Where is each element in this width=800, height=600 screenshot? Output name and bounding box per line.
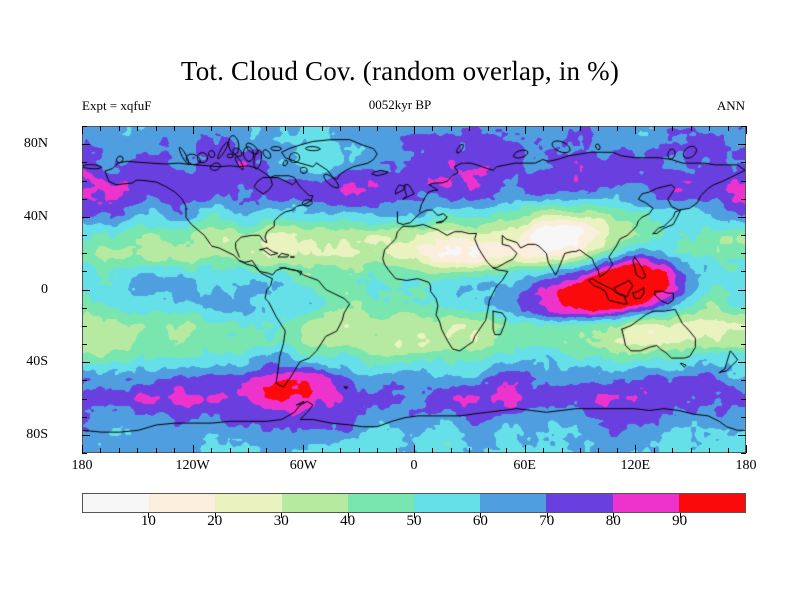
axis-tickmark [741, 271, 746, 272]
axis-tickmark [266, 126, 267, 131]
axis-tickmark [82, 445, 83, 453]
axis-tickmark [741, 235, 746, 236]
axis-tickmark [82, 162, 87, 163]
colorbar-band [414, 494, 480, 512]
axis-tickmark [469, 448, 470, 453]
axis-tickmark [193, 445, 194, 453]
axis-tickmark [248, 126, 249, 131]
axis-tickmark [738, 290, 746, 291]
axis-tickmark [82, 362, 90, 363]
axis-tickmark [285, 126, 286, 131]
axis-tickmark [174, 126, 175, 131]
colorbar-band [679, 494, 745, 512]
axis-tickmark [119, 126, 120, 131]
colorbar-band [348, 494, 414, 512]
axis-tickmark [82, 308, 87, 309]
axis-tickmark [82, 126, 87, 127]
axis-tickmark [82, 290, 90, 291]
colorbar-band [149, 494, 215, 512]
axis-tickmark [709, 448, 710, 453]
axis-tickmark [741, 181, 746, 182]
axis-tickmark [741, 326, 746, 327]
figure-root: Tot. Cloud Cov. (random overlap, in %) 0… [0, 0, 800, 600]
axis-tickmark [746, 445, 747, 453]
axis-tickmark [322, 126, 323, 131]
axis-tickmark [654, 126, 655, 131]
axis-tickmark [635, 126, 636, 134]
axis-tickmark [82, 380, 87, 381]
axis-tickmark [82, 253, 87, 254]
colorbar-tick-label: 50 [407, 513, 422, 530]
colorbar-tick-label: 30 [274, 513, 289, 530]
axis-tickmark [82, 126, 83, 134]
latitude-tick-label: 40N [24, 209, 48, 225]
axis-tickmark [193, 126, 194, 134]
axis-tickmark [672, 126, 673, 131]
colorbar-tick-label: 60 [473, 513, 488, 530]
axis-tickmark [119, 448, 120, 453]
axis-tickmark [741, 380, 746, 381]
latitude-tick-label: 80S [26, 427, 48, 443]
axis-tickmark [580, 126, 581, 131]
axis-tickmark [728, 126, 729, 131]
colorbar-tick-label: 20 [207, 513, 222, 530]
longitude-tick-label: 60E [513, 458, 536, 474]
axis-tickmark [285, 448, 286, 453]
axis-tickmark [488, 448, 489, 453]
colorbar [82, 493, 746, 513]
axis-tickmark [562, 126, 563, 131]
axis-tickmark [322, 448, 323, 453]
axis-tickmark [741, 253, 746, 254]
axis-tickmark [82, 181, 87, 182]
colorbar-tick-label: 80 [606, 513, 621, 530]
axis-tickmark [359, 448, 360, 453]
axis-tickmark [506, 126, 507, 131]
axis-tickmark [211, 126, 212, 131]
axis-tickmark [741, 453, 746, 454]
axis-tickmark [82, 217, 90, 218]
latitude-tick-label: 40S [26, 354, 48, 370]
season-label: ANN [0, 98, 745, 114]
axis-tickmark [543, 126, 544, 131]
axis-tickmark [728, 448, 729, 453]
axis-tickmark [598, 448, 599, 453]
axis-tickmark [451, 126, 452, 131]
axis-tickmark [691, 448, 692, 453]
axis-tickmark [598, 126, 599, 131]
longitude-tick-label: 180 [736, 458, 757, 474]
axis-tickmark [432, 448, 433, 453]
axis-tickmark [230, 448, 231, 453]
axis-tickmark [82, 235, 87, 236]
colorbar-tick-label: 10 [141, 513, 156, 530]
colorbar-tick-label: 40 [340, 513, 355, 530]
colorbar-band [83, 494, 149, 512]
latitude-tick-label: 0 [41, 282, 48, 298]
colorbar-band [282, 494, 348, 512]
axis-tickmark [488, 126, 489, 131]
axis-tickmark [359, 126, 360, 131]
axis-tickmark [414, 126, 415, 134]
axis-tickmark [741, 308, 746, 309]
longitude-tick-label: 0 [411, 458, 418, 474]
colorbar-tick-label: 90 [672, 513, 687, 530]
longitude-tick-label: 180 [72, 458, 93, 474]
axis-tickmark [617, 126, 618, 131]
axis-tickmark [672, 448, 673, 453]
axis-tickmark [377, 448, 378, 453]
axis-tickmark [211, 448, 212, 453]
axis-tickmark [469, 126, 470, 131]
longitude-tick-label: 60W [290, 458, 317, 474]
axis-tickmark [82, 199, 87, 200]
axis-tickmark [738, 362, 746, 363]
axis-tickmark [82, 453, 87, 454]
axis-tickmark [709, 126, 710, 131]
axis-tickmark [82, 435, 90, 436]
axis-tickmark [738, 435, 746, 436]
axis-tickmark [340, 126, 341, 131]
axis-tickmark [738, 217, 746, 218]
axis-tickmark [82, 326, 87, 327]
axis-tickmark [580, 448, 581, 453]
axis-tickmark [82, 271, 87, 272]
axis-tickmark [738, 144, 746, 145]
page-title: Tot. Cloud Cov. (random overlap, in %) [0, 56, 800, 87]
colorbar-band [215, 494, 281, 512]
axis-tickmark [137, 126, 138, 131]
axis-tickmark [635, 445, 636, 453]
colorbar-band [480, 494, 546, 512]
axis-tickmark [506, 448, 507, 453]
axis-tickmark [156, 448, 157, 453]
axis-tickmark [303, 445, 304, 453]
axis-tickmark [82, 344, 87, 345]
axis-tickmark [156, 126, 157, 131]
axis-tickmark [414, 445, 415, 453]
axis-tickmark [303, 126, 304, 134]
colorbar-band [546, 494, 612, 512]
colorbar-tick-label: 70 [539, 513, 554, 530]
cloud-cover-map [83, 127, 745, 452]
axis-tickmark [174, 448, 175, 453]
axis-tickmark [82, 144, 90, 145]
axis-tickmark [741, 417, 746, 418]
map-plot-area [82, 126, 746, 453]
axis-tickmark [741, 126, 746, 127]
axis-tickmark [340, 448, 341, 453]
axis-tickmark [100, 448, 101, 453]
colorbar-band [613, 494, 679, 512]
axis-tickmark [741, 344, 746, 345]
axis-tickmark [562, 448, 563, 453]
axis-tickmark [377, 126, 378, 131]
axis-tickmark [248, 448, 249, 453]
axis-tickmark [741, 162, 746, 163]
axis-tickmark [82, 417, 87, 418]
axis-tickmark [691, 126, 692, 131]
axis-tickmark [266, 448, 267, 453]
latitude-tick-label: 80N [24, 136, 48, 152]
axis-tickmark [137, 448, 138, 453]
axis-tickmark [100, 126, 101, 131]
longitude-tick-label: 120W [176, 458, 210, 474]
axis-tickmark [82, 399, 87, 400]
axis-tickmark [543, 448, 544, 453]
axis-tickmark [396, 448, 397, 453]
axis-tickmark [746, 126, 747, 134]
axis-tickmark [396, 126, 397, 131]
axis-tickmark [451, 448, 452, 453]
axis-tickmark [617, 448, 618, 453]
axis-tickmark [741, 199, 746, 200]
axis-tickmark [525, 126, 526, 134]
axis-tickmark [654, 448, 655, 453]
axis-tickmark [741, 399, 746, 400]
axis-tickmark [230, 126, 231, 131]
longitude-tick-label: 120E [621, 458, 651, 474]
axis-tickmark [432, 126, 433, 131]
axis-tickmark [525, 445, 526, 453]
